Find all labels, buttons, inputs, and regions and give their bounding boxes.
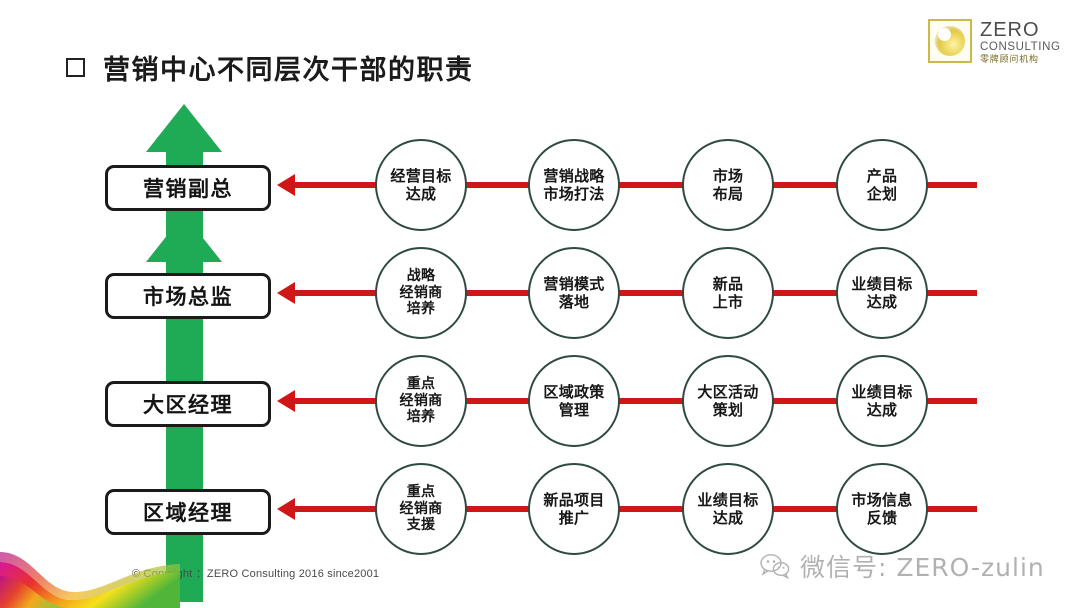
- connector-line-row1-e: [925, 182, 977, 188]
- task-line: 策划: [713, 401, 744, 419]
- wechat-icon: [760, 553, 790, 579]
- connector-arrowhead-row3: [277, 390, 295, 412]
- task-circle-r4c3[interactable]: 业绩目标 达成: [682, 463, 774, 555]
- task-circle-r4c4[interactable]: 市场信息 反馈: [836, 463, 928, 555]
- brand-logo: ZERO CONSULTING 零牌顾问机构: [928, 14, 1062, 68]
- task-line: 布局: [713, 185, 744, 203]
- task-line: 管理: [559, 401, 590, 419]
- task-circle-r2c3[interactable]: 新品 上市: [682, 247, 774, 339]
- task-circle-r2c4[interactable]: 业绩目标 达成: [836, 247, 928, 339]
- task-line: 大区活动: [697, 383, 758, 401]
- task-line: 产品: [867, 167, 898, 185]
- connector-line-row4-e: [925, 506, 977, 512]
- task-line: 营销模式: [543, 275, 604, 293]
- page-title: 营销中心不同层次干部的职责: [66, 48, 474, 87]
- task-line: 经销商: [400, 393, 443, 410]
- connector-line-row2-b: [465, 290, 537, 296]
- wechat-watermark: 微信号: ZERO-zulin: [760, 548, 1045, 584]
- task-line: 培养: [407, 301, 436, 318]
- task-circle-r2c2[interactable]: 营销模式 落地: [528, 247, 620, 339]
- connector-line-row4-c: [618, 506, 686, 512]
- task-line: 达成: [867, 293, 898, 311]
- task-line: 市场信息: [851, 491, 912, 509]
- role-box-1[interactable]: 营销副总: [105, 165, 271, 211]
- square-bullet-icon: [66, 58, 85, 77]
- task-line: 新品项目: [543, 491, 604, 509]
- task-line: 市场: [713, 167, 744, 185]
- watermark-text: 微信号: ZERO-zulin: [800, 548, 1045, 584]
- task-line: 业绩目标: [851, 383, 912, 401]
- connector-line-row2-e: [925, 290, 977, 296]
- task-line: 落地: [559, 293, 590, 311]
- page-title-text: 营销中心不同层次干部的职责: [103, 48, 474, 87]
- connector-line-row1-c: [618, 182, 686, 188]
- connector-line-row1-d: [772, 182, 840, 188]
- connector-arrowhead-row1: [277, 174, 295, 196]
- connector-line-row2-d: [772, 290, 840, 296]
- role-box-2[interactable]: 市场总监: [105, 273, 271, 319]
- connector-line-row4-b: [465, 506, 537, 512]
- role-box-3[interactable]: 大区经理: [105, 381, 271, 427]
- role-box-4[interactable]: 区域经理: [105, 489, 271, 535]
- task-circle-r2c1[interactable]: 战略 经销商 培养: [375, 247, 467, 339]
- task-circle-r4c2[interactable]: 新品项目 推广: [528, 463, 620, 555]
- connector-line-row3-e: [925, 398, 977, 404]
- connector-line-row4-a: [295, 506, 385, 512]
- connector-line-row1-a: [295, 182, 385, 188]
- connector-arrowhead-row4: [277, 498, 295, 520]
- logo-text-block: ZERO CONSULTING 零牌顾问机构: [980, 18, 1061, 65]
- connector-arrowhead-row2: [277, 282, 295, 304]
- task-circle-r3c4[interactable]: 业绩目标 达成: [836, 355, 928, 447]
- task-circle-r3c2[interactable]: 区域政策 管理: [528, 355, 620, 447]
- task-circle-r4c1[interactable]: 重点 经销商 支援: [375, 463, 467, 555]
- task-line: 经销商: [400, 501, 443, 518]
- connector-line-row3-d: [772, 398, 840, 404]
- connector-line-row4-d: [772, 506, 840, 512]
- logo-subtitle: CONSULTING: [980, 42, 1061, 54]
- task-circle-r1c2[interactable]: 营销战略 市场打法: [528, 139, 620, 231]
- task-line: 反馈: [867, 509, 898, 527]
- task-circle-r3c3[interactable]: 大区活动 策划: [682, 355, 774, 447]
- task-line: 经销商: [400, 285, 443, 302]
- task-line: 培养: [407, 409, 436, 426]
- task-line: 企划: [867, 185, 898, 203]
- task-line: 上市: [713, 293, 744, 311]
- slide-canvas: ZERO CONSULTING 零牌顾问机构 营销中心不同层次干部的职责 营销副…: [0, 0, 1080, 608]
- connector-line-row2-c: [618, 290, 686, 296]
- task-line: 业绩目标: [697, 491, 758, 509]
- task-line: 达成: [867, 401, 898, 419]
- task-circle-r3c1[interactable]: 重点 经销商 培养: [375, 355, 467, 447]
- task-line: 重点: [407, 376, 436, 393]
- task-line: 推广: [559, 509, 590, 527]
- task-line: 战略: [407, 268, 436, 285]
- task-line: 新品: [713, 275, 744, 293]
- task-line: 重点: [407, 484, 436, 501]
- task-circle-r1c4[interactable]: 产品 企划: [836, 139, 928, 231]
- task-line: 支援: [407, 517, 436, 534]
- task-line: 经营目标: [390, 167, 451, 185]
- zero-circle-mark-icon: [928, 19, 972, 63]
- task-line: 市场打法: [543, 185, 604, 203]
- task-line: 业绩目标: [851, 275, 912, 293]
- logo-chinese-name: 零牌顾问机构: [980, 55, 1061, 64]
- connector-line-row1-b: [465, 182, 537, 188]
- connector-line-row3-a: [295, 398, 385, 404]
- logo-name: ZERO: [980, 20, 1061, 40]
- task-circle-r1c3[interactable]: 市场 布局: [682, 139, 774, 231]
- connector-line-row3-b: [465, 398, 537, 404]
- connector-line-row3-c: [618, 398, 686, 404]
- task-line: 区域政策: [543, 383, 604, 401]
- task-circle-r1c1[interactable]: 经营目标 达成: [375, 139, 467, 231]
- connector-line-row2-a: [295, 290, 385, 296]
- task-line: 达成: [713, 509, 744, 527]
- task-line: 达成: [406, 185, 437, 203]
- task-line: 营销战略: [543, 167, 604, 185]
